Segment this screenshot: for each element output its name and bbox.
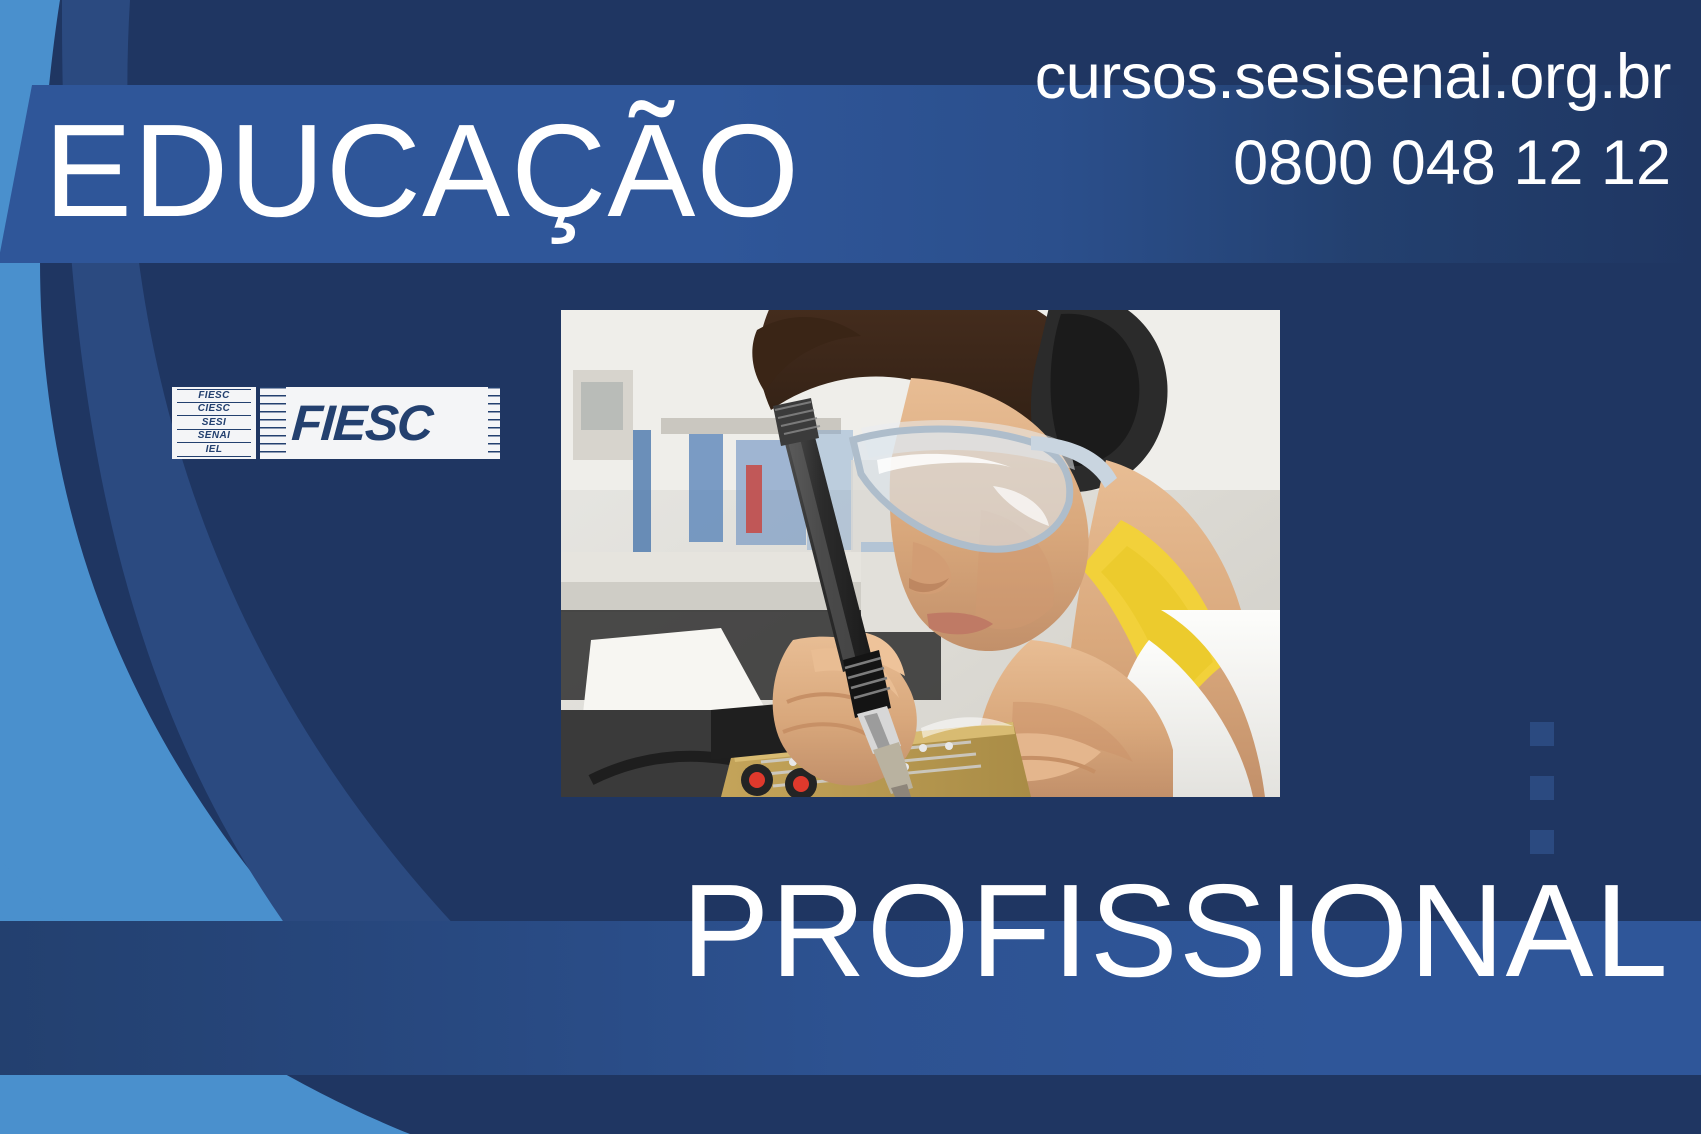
poster-canvas: EDUCAÇÃO cursos.sesisenai.org.br 0800 04… bbox=[0, 0, 1701, 1134]
student-photo bbox=[561, 310, 1280, 797]
logo-entity-fiesc: FIESC bbox=[177, 389, 251, 403]
page-title-profissional: PROFISSIONAL bbox=[681, 856, 1669, 1006]
contact-block: cursos.sesisenai.org.br 0800 048 12 12 bbox=[1035, 40, 1671, 200]
decorative-square-3 bbox=[1530, 830, 1554, 854]
decorative-square-1 bbox=[1530, 722, 1554, 746]
fiesc-wordmark-text: FIESC bbox=[290, 397, 433, 449]
fiesc-logo-entities: FIESC CIESC SESI SENAI IEL bbox=[172, 387, 256, 459]
page-title-educacao: EDUCAÇÃO bbox=[44, 96, 800, 246]
logo-entity-iel: IEL bbox=[177, 444, 251, 457]
decorative-square-2 bbox=[1530, 776, 1554, 800]
website-url[interactable]: cursos.sesisenai.org.br bbox=[1035, 40, 1671, 114]
fiesc-logo: FIESC CIESC SESI SENAI IEL FIESC bbox=[172, 387, 500, 459]
student-photo-illustration bbox=[561, 310, 1280, 797]
logo-entity-senai: SENAI bbox=[177, 430, 251, 443]
fiesc-logo-wordmark-box: FIESC bbox=[260, 387, 500, 459]
logo-entity-sesi: SESI bbox=[177, 417, 251, 430]
phone-number[interactable]: 0800 048 12 12 bbox=[1035, 126, 1671, 200]
logo-entity-ciesc: CIESC bbox=[177, 403, 251, 416]
